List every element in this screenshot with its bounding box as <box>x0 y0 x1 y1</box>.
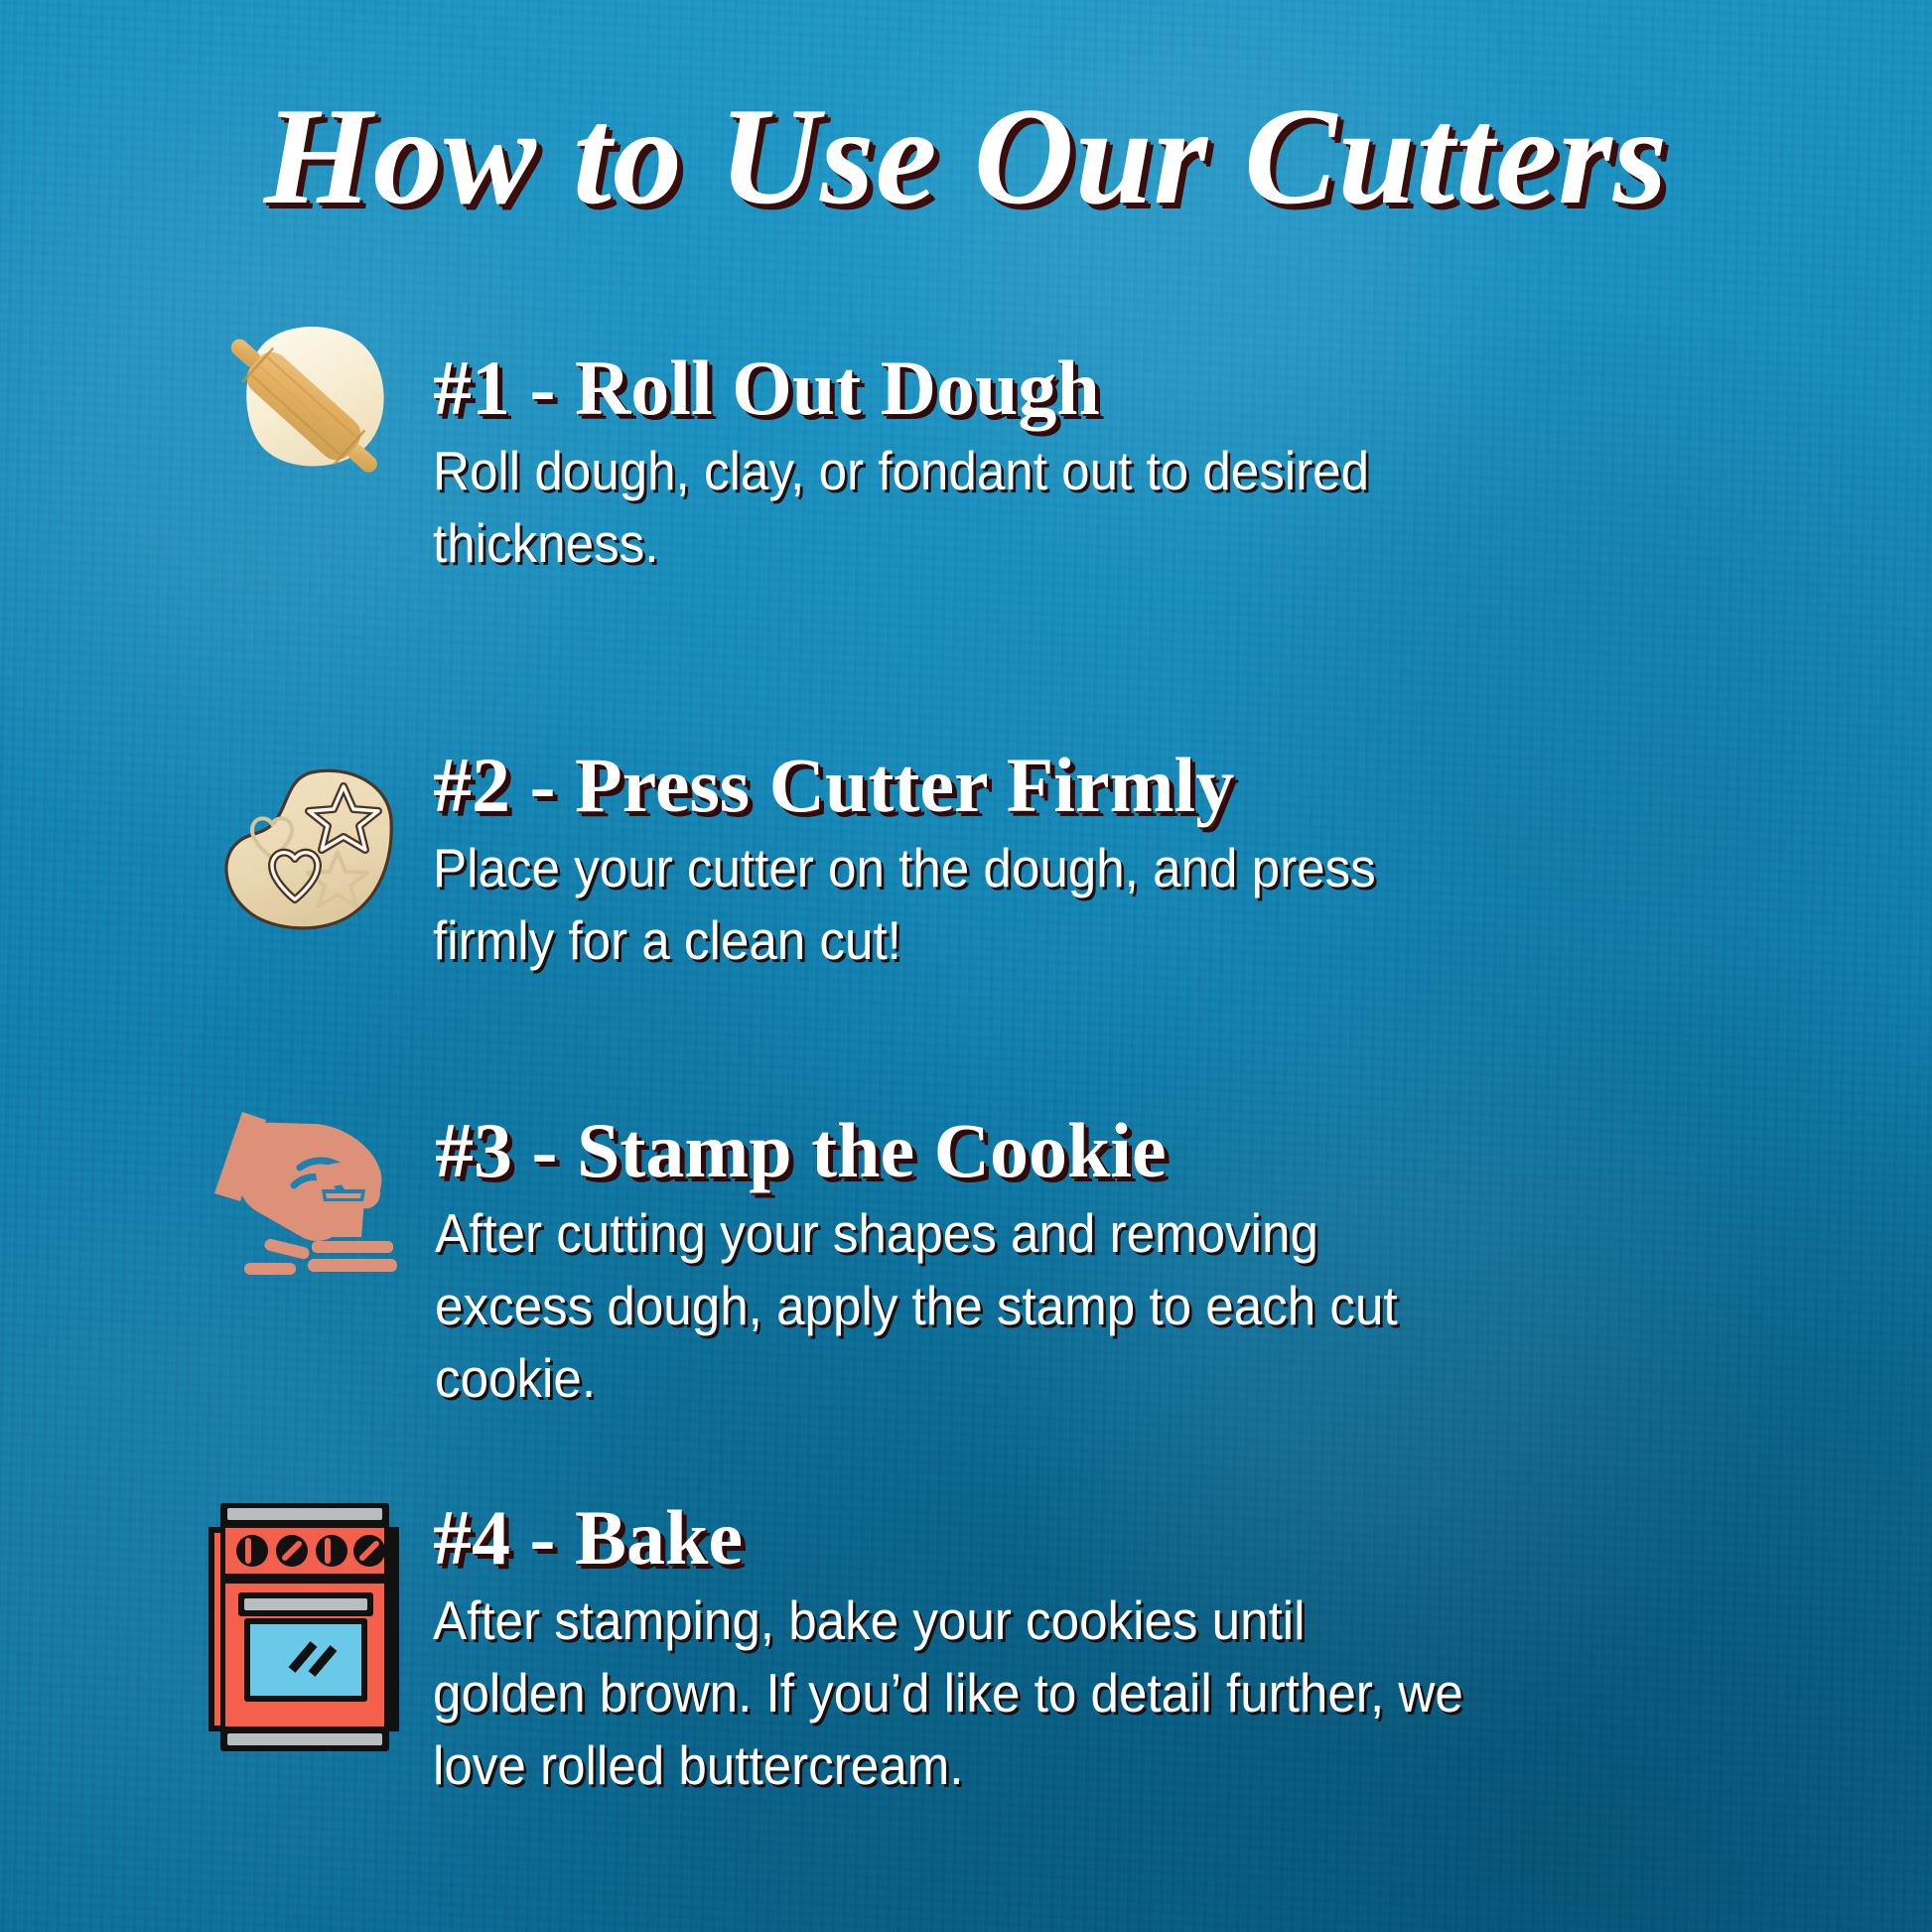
step-item-4: #4 - Bake After stamping, bake your cook… <box>205 1499 1545 1802</box>
step-text-3: #3 - Stamp the Cookie After cutting your… <box>435 1112 1547 1415</box>
step-description-1: Roll dough, clay, or fondant out to desi… <box>433 435 1467 580</box>
step-text-4: #4 - Bake After stamping, bake your cook… <box>433 1499 1545 1802</box>
hand-stamp-icon <box>205 1094 413 1308</box>
step-item-2: #2 - Press Cutter Firmly Place your cutt… <box>205 747 1545 977</box>
step-item-1: #1 - Roll Out Dough Roll dough, clay, or… <box>205 349 1545 580</box>
step-heading-1: #1 - Roll Out Dough <box>433 349 1545 427</box>
step-heading-2: #2 - Press Cutter Firmly <box>433 747 1545 824</box>
dough-with-cutters-icon <box>205 755 403 963</box>
step-item-3: #3 - Stamp the Cookie After cutting your… <box>205 1112 1547 1415</box>
step-description-2: Place your cutter on the dough, and pres… <box>433 832 1467 977</box>
rolling-pin-dough-icon <box>205 302 403 510</box>
step-description-4: After stamping, bake your cookies until … <box>433 1585 1467 1802</box>
step-text-1: #1 - Roll Out Dough Roll dough, clay, or… <box>433 349 1545 580</box>
step-heading-4: #4 - Bake <box>433 1499 1545 1577</box>
step-description-3: After cutting your shapes and removing e… <box>435 1197 1469 1415</box>
oven-icon <box>205 1493 403 1771</box>
infographic-poster: How to Use Our Cutters <box>0 0 1932 1932</box>
step-heading-3: #3 - Stamp the Cookie <box>435 1112 1547 1189</box>
page-title: How to Use Our Cutters <box>0 83 1932 229</box>
step-text-2: #2 - Press Cutter Firmly Place your cutt… <box>433 747 1545 977</box>
